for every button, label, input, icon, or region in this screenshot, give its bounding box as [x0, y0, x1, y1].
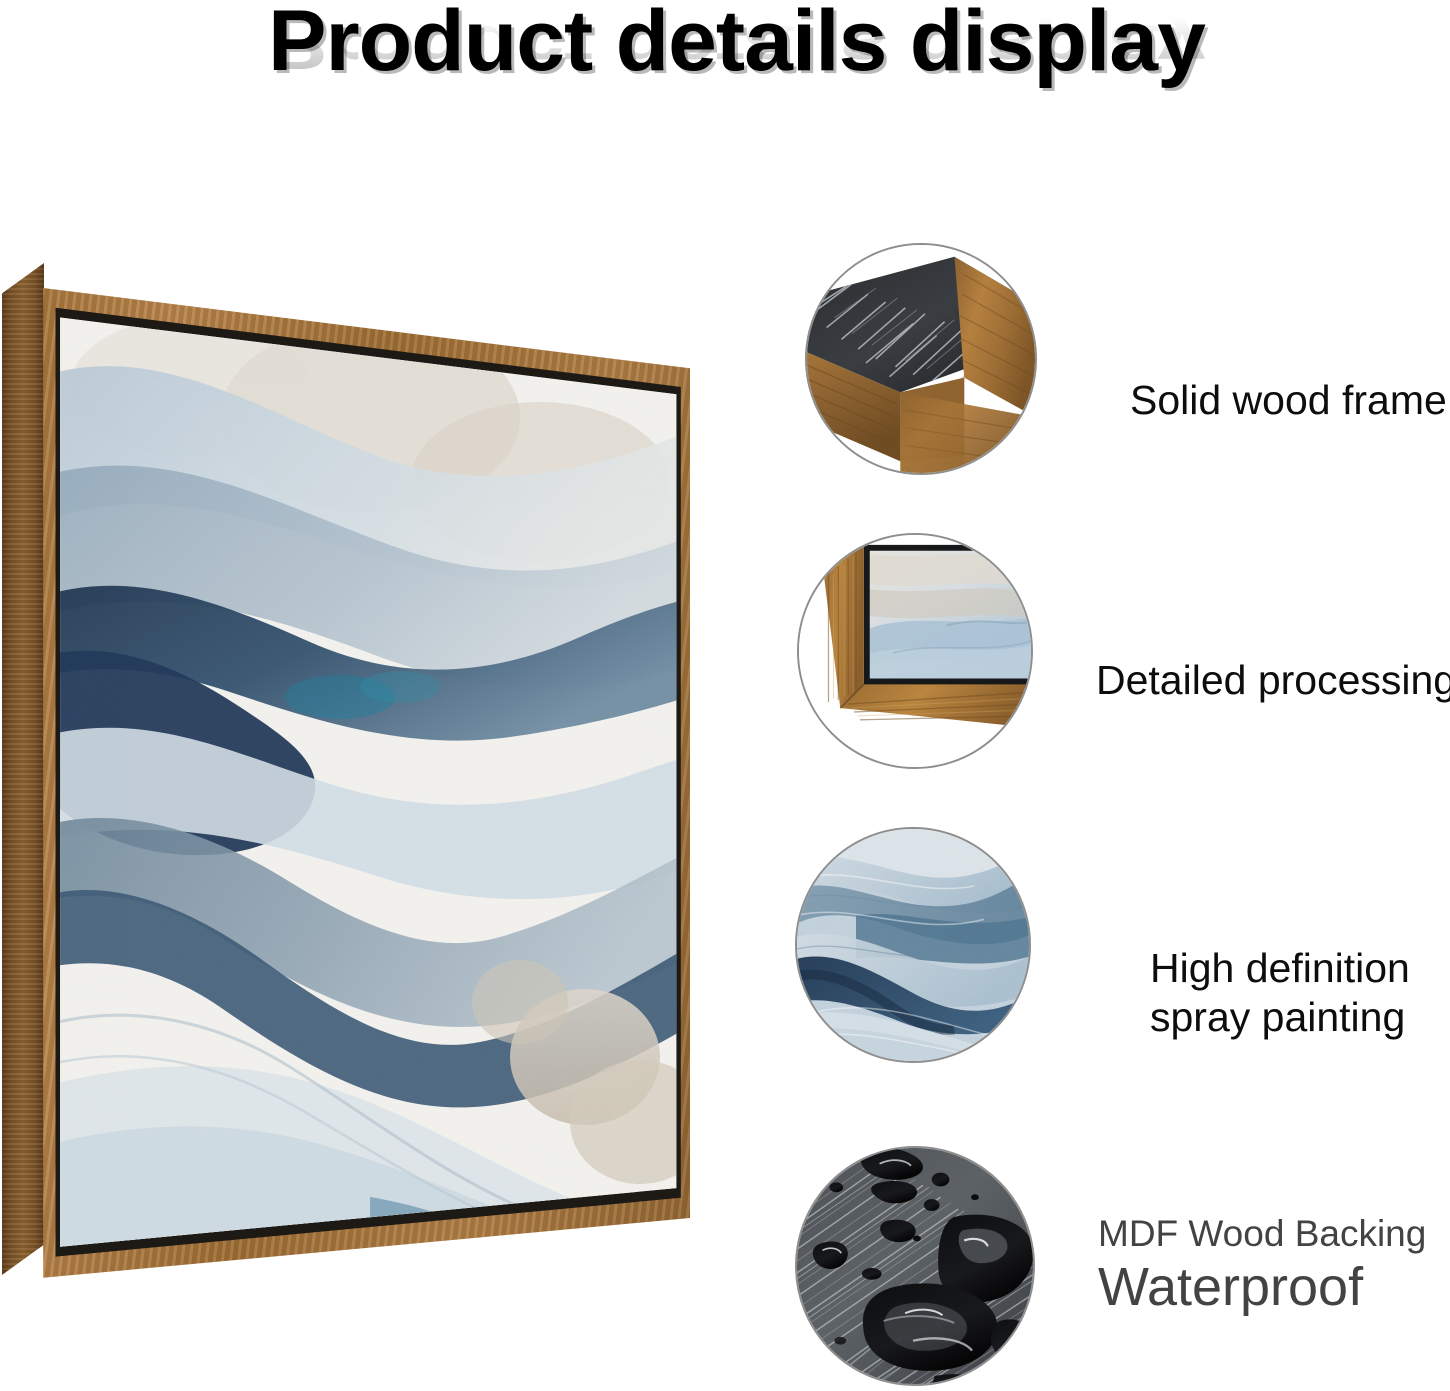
page-header: Product details display Product details …: [0, 0, 1450, 150]
page-title-reflection: Product details display: [268, 11, 1205, 82]
framed-artwork[interactable]: [0, 255, 720, 1295]
feature-label-solid-wood-frame: Solid wood frame: [1130, 376, 1447, 425]
frame-side-edge: [2, 263, 44, 1275]
feature-label-mdf-wood-backing-waterproof: MDF Wood Backing Waterproof: [1098, 1212, 1426, 1318]
feature-label-detailed-processing: Detailed processing: [1096, 656, 1450, 705]
feature-label-waterproof: Waterproof: [1098, 1256, 1426, 1318]
feature-label-mdf-wood-backing: MDF Wood Backing: [1098, 1212, 1426, 1256]
watercolor-closeup-image[interactable]: [795, 827, 1031, 1063]
feature-label-line1: High definition: [1150, 945, 1410, 991]
feature-label-high-definition-spray-painting: High definition spray painting: [1150, 944, 1440, 1042]
water-droplets-on-board-image[interactable]: [795, 1146, 1035, 1386]
wood-frame-corner-joint-image[interactable]: [805, 243, 1037, 475]
canvas-artwork: [40, 267, 688, 1277]
framed-canvas-corner-image[interactable]: [797, 533, 1033, 769]
feature-label-line2: spray painting: [1150, 994, 1405, 1040]
